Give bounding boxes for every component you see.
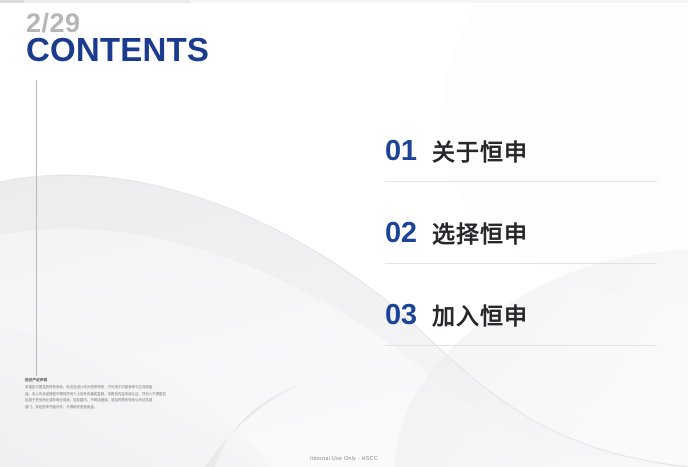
ip-disclaimer-line: 部门。未经恒申书面许可，不得用作其他用途。: [25, 406, 201, 410]
contents-item-number: 01: [385, 137, 432, 166]
ip-disclaimer-title: 知识产权声明: [25, 379, 201, 383]
vertical-rule-divider: [36, 80, 37, 376]
contents-item-content: 03 加入恒申: [385, 301, 528, 330]
contents-item-03[interactable]: 03 加入恒申: [385, 264, 657, 346]
contents-list: 01 关于恒申 02 选择恒申 03 加入恒申: [385, 100, 657, 346]
contents-item-number: 02: [385, 219, 432, 248]
slide-top-edge-strip: [0, 0, 688, 3]
contents-item-number: 03: [385, 301, 432, 330]
contents-item-label: 加入恒申: [432, 305, 528, 328]
contents-item-02[interactable]: 02 选择恒申: [385, 182, 657, 264]
contents-item-content: 02 选择恒申: [385, 219, 528, 248]
contents-item-divider: [385, 345, 657, 346]
ip-disclaimer-body: 本报告中提及的所有商标、标识及设计均为恒申所有，只可用于内部参考与交流用途 途。…: [25, 386, 201, 409]
ip-disclaimer: 知识产权声明 本报告中提及的所有商标、标识及设计均为恒申所有，只可用于内部参考与…: [25, 379, 201, 412]
footer-confidentiality-notice: Internal Use Only - HSCC: [0, 456, 688, 462]
contents-item-label: 关于恒申: [432, 141, 528, 164]
contents-item-content: 01 关于恒申: [385, 137, 528, 166]
ip-disclaimer-line: 自用于任何商业或非商业用途，如存疑问、不明或错误，请及时联系恒申公司法务部: [25, 399, 201, 403]
contents-item-label: 选择恒申: [432, 223, 528, 246]
presentation-slide: 2/29 CONTENTS 01 关于恒申 02 选择恒申 03 加入恒申: [0, 0, 688, 467]
ip-disclaimer-line: 本报告中提及的所有商标、标识及设计均为恒申所有，只可用于内部参考与交流用途: [25, 386, 201, 390]
ip-disclaimer-line: 途。本公司未经授权不得将任何人士向外传播或复制，本报告内容未经认证，任何人不得擅…: [25, 393, 201, 397]
contents-item-01[interactable]: 01 关于恒申: [385, 100, 657, 182]
page-title: CONTENTS: [26, 33, 209, 66]
